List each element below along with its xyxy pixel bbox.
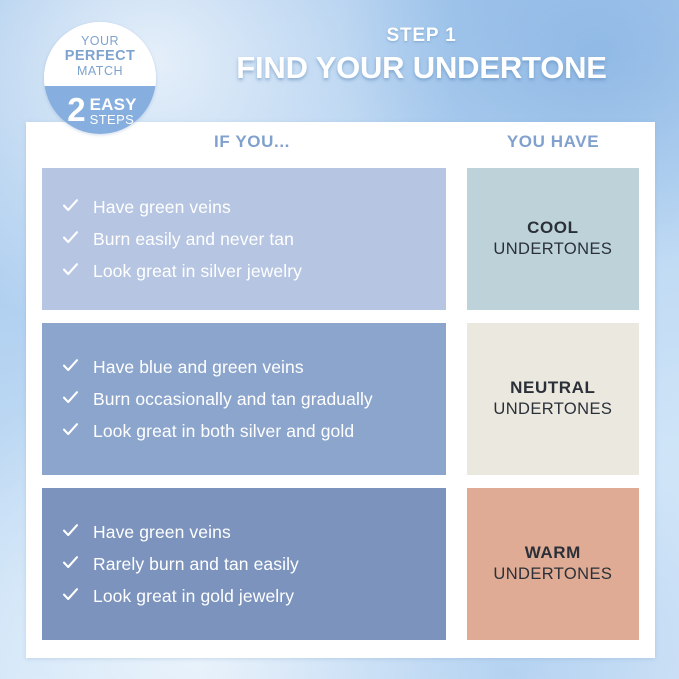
swatch-title: COOL bbox=[527, 218, 579, 238]
check-icon bbox=[62, 357, 79, 377]
list-item-label: Have green veins bbox=[93, 521, 231, 543]
step-label: STEP 1 bbox=[190, 26, 653, 47]
swatch-cool: COOL UNDERTONES bbox=[467, 168, 639, 310]
undertone-rows: Have green veins Burn easily and never t… bbox=[42, 168, 639, 653]
badge-top-half: YOUR PERFECT MATCH bbox=[44, 22, 156, 86]
check-icon bbox=[62, 261, 79, 281]
list-item: Look great in silver jewelry bbox=[62, 260, 428, 282]
swatch-title: WARM bbox=[525, 543, 581, 563]
badge-line-match: MATCH bbox=[44, 64, 156, 78]
swatch-subtitle: UNDERTONES bbox=[493, 565, 612, 585]
list-item-label: Have green veins bbox=[93, 196, 231, 218]
badge-line-steps: STEPS bbox=[90, 113, 137, 126]
badge-step-count: 2 bbox=[67, 95, 85, 125]
your-perfect-match-badge: YOUR PERFECT MATCH 2 EASY STEPS bbox=[44, 22, 156, 134]
swatch-title: NEUTRAL bbox=[510, 378, 595, 398]
swatch-subtitle: UNDERTONES bbox=[493, 240, 612, 260]
badge-steps-text: EASY STEPS bbox=[90, 95, 137, 126]
list-item: Burn easily and never tan bbox=[62, 228, 428, 250]
column-header-if-you: IF YOU... bbox=[42, 132, 462, 152]
content-card: IF YOU... YOU HAVE Have green veins bbox=[26, 122, 655, 658]
list-item: Look great in gold jewelry bbox=[62, 585, 428, 607]
badge-line-your: YOUR bbox=[44, 34, 156, 48]
table-row: Have blue and green veins Burn occasiona… bbox=[42, 323, 639, 475]
list-item-label: Have blue and green veins bbox=[93, 356, 304, 378]
table-row: Have green veins Rarely burn and tan eas… bbox=[42, 488, 639, 640]
checklist-neutral: Have blue and green veins Burn occasiona… bbox=[42, 323, 446, 475]
list-item-label: Look great in silver jewelry bbox=[93, 260, 302, 282]
list-item-label: Look great in gold jewelry bbox=[93, 585, 294, 607]
check-icon bbox=[62, 421, 79, 441]
check-icon bbox=[62, 229, 79, 249]
swatch-subtitle: UNDERTONES bbox=[493, 400, 612, 420]
swatch-warm: WARM UNDERTONES bbox=[467, 488, 639, 640]
badge-bottom-half: 2 EASY STEPS bbox=[44, 86, 156, 134]
list-item-label: Look great in both silver and gold bbox=[93, 420, 354, 442]
check-icon bbox=[62, 586, 79, 606]
list-item: Look great in both silver and gold bbox=[62, 420, 428, 442]
list-item: Burn occasionally and tan gradually bbox=[62, 388, 428, 410]
table-row: Have green veins Burn easily and never t… bbox=[42, 168, 639, 310]
checklist-cool: Have green veins Burn easily and never t… bbox=[42, 168, 446, 310]
list-item: Have green veins bbox=[62, 521, 428, 543]
badge-line-easy: EASY bbox=[90, 96, 137, 113]
swatch-neutral: NEUTRAL UNDERTONES bbox=[467, 323, 639, 475]
list-item-label: Burn easily and never tan bbox=[93, 228, 294, 250]
column-header-you-have: YOU HAVE bbox=[463, 132, 643, 152]
list-item-label: Rarely burn and tan easily bbox=[93, 553, 299, 575]
page-title: FIND YOUR UNDERTONE bbox=[190, 51, 653, 86]
column-headers: IF YOU... YOU HAVE bbox=[26, 132, 655, 166]
list-item-label: Burn occasionally and tan gradually bbox=[93, 388, 373, 410]
check-icon bbox=[62, 197, 79, 217]
check-icon bbox=[62, 522, 79, 542]
check-icon bbox=[62, 554, 79, 574]
list-item: Rarely burn and tan easily bbox=[62, 553, 428, 575]
infographic-canvas: STEP 1 FIND YOUR UNDERTONE YOUR PERFECT … bbox=[0, 0, 679, 679]
check-icon bbox=[62, 389, 79, 409]
checklist-warm: Have green veins Rarely burn and tan eas… bbox=[42, 488, 446, 640]
page-header: STEP 1 FIND YOUR UNDERTONE bbox=[190, 26, 653, 86]
badge-line-perfect: PERFECT bbox=[44, 48, 156, 64]
list-item: Have blue and green veins bbox=[62, 356, 428, 378]
list-item: Have green veins bbox=[62, 196, 428, 218]
